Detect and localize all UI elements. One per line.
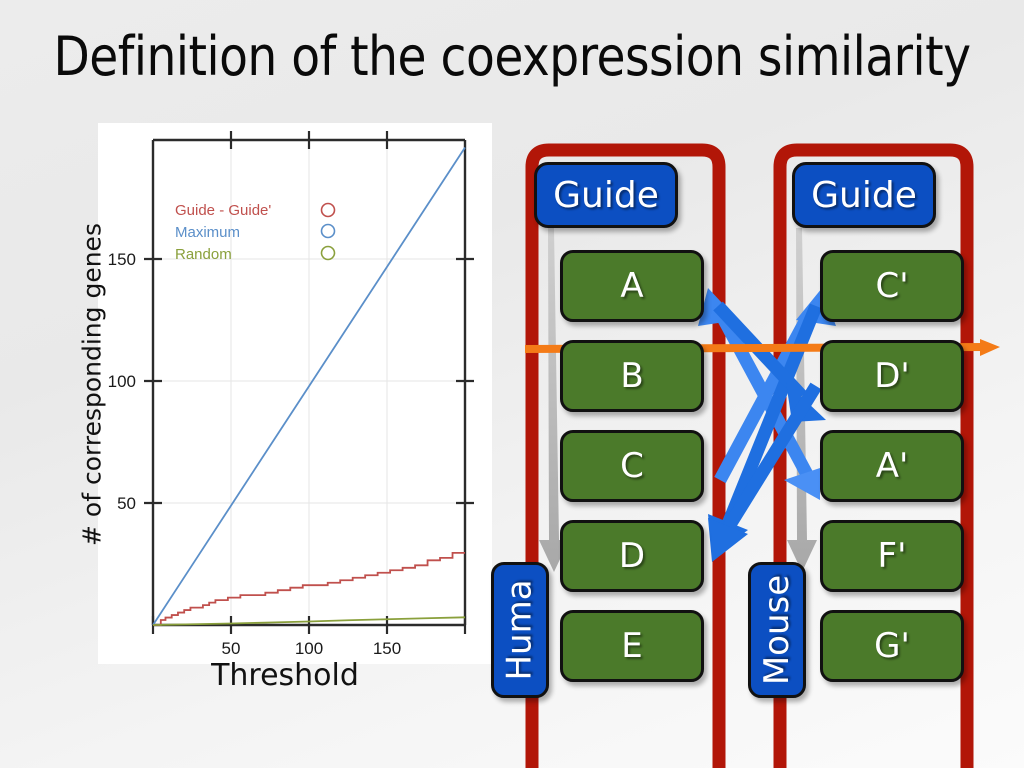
gene-box-left-2[interactable]: C: [560, 430, 704, 502]
chart-xtick-50: 50: [222, 639, 241, 658]
chart-xtick-150: 150: [373, 639, 401, 658]
coexpression-diagram: Guide A B C D E Huma Guide C' D' A' F' G…: [480, 120, 1024, 768]
species-label-right[interactable]: Mouse: [748, 562, 806, 698]
legend-marker-circle-guide-guide: [322, 204, 335, 217]
gene-box-right-2[interactable]: A': [820, 430, 964, 502]
gene-box-right-0[interactable]: C': [820, 250, 964, 322]
chart-legend: Guide - Guide' Maximum Random: [175, 202, 335, 263]
chart-ytick-100: 100: [108, 372, 136, 391]
chart-ytick-150: 150: [108, 250, 136, 269]
legend-marker-circle-random: [322, 247, 335, 260]
chart-xtick-100: 100: [295, 639, 323, 658]
gene-box-left-1[interactable]: B: [560, 340, 704, 412]
gene-box-left-4[interactable]: E: [560, 610, 704, 682]
gene-box-left-0[interactable]: A: [560, 250, 704, 322]
guide-box-right[interactable]: Guide: [792, 162, 936, 228]
species-label-right-text: Mouse: [757, 575, 797, 685]
gene-box-right-3[interactable]: F': [820, 520, 964, 592]
threshold-line-arrowhead: [980, 339, 1000, 356]
legend-label-maximum: Maximum: [175, 224, 240, 241]
legend-label-random: Random: [175, 246, 232, 263]
gene-box-left-3[interactable]: D: [560, 520, 704, 592]
species-label-left-text: Huma: [500, 579, 540, 680]
legend-marker-circle-maximum: [322, 225, 335, 238]
species-label-left[interactable]: Huma: [491, 562, 549, 698]
chart-ytick-50: 50: [117, 494, 136, 513]
coexpression-chart-figure: # of corresponding genes Threshold: [40, 120, 495, 700]
gene-box-right-4[interactable]: G': [820, 610, 964, 682]
chart-svg: 150 100 50 50 100 150 Guide - Guide' Max…: [40, 120, 495, 700]
legend-label-guide-guide: Guide - Guide': [175, 202, 271, 219]
page-title: Definition of the coexpression similarit…: [15, 26, 1008, 88]
guide-box-left[interactable]: Guide: [534, 162, 678, 228]
gene-box-right-1[interactable]: D': [820, 340, 964, 412]
